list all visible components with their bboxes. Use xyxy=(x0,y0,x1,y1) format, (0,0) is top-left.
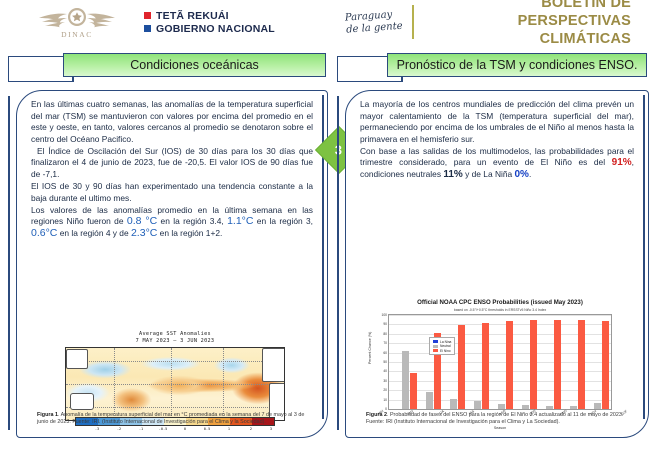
gobierno-nacional-block: TETÃ REKUÁI GOBIERNO NACIONAL xyxy=(144,10,275,35)
header-right-branding: Paraguay de la gente BOLETÍN DE PERSPECT… xyxy=(330,0,659,44)
panel-pronostico-tsm-enso: Pronóstico de la TSM y condiciones ENSO.… xyxy=(337,48,651,448)
ytick-30: 30 xyxy=(376,379,387,383)
page-header: DINAC TETÃ REKUÁI GOBIERNO NACIONAL Para… xyxy=(0,0,659,44)
left-panel-text: En las últimas cuatro semanas, las anoma… xyxy=(31,99,313,240)
left-paragraph-anomalies: Los valores de las anomalías promedio en… xyxy=(31,205,313,240)
legend-item-elnino: El Nino xyxy=(433,349,451,353)
anom-text-4: en la región 4 y de xyxy=(57,228,131,238)
legend-label-neutral: Neutral xyxy=(440,344,451,348)
left-paragraph-1: En las últimas cuatro semanas, las anoma… xyxy=(31,99,313,145)
gov-line-gobierno: GOBIERNO NACIONAL xyxy=(144,23,275,35)
bar-el-nino-ond xyxy=(554,320,561,409)
bar-group-djf xyxy=(585,315,609,409)
cbar-tick-6: 1 xyxy=(228,427,230,431)
fig2-caption-label: Figura 2 xyxy=(366,412,387,418)
prob-value-neutral: 11% xyxy=(443,169,462,180)
bar-group-amj xyxy=(393,315,417,409)
legend-swatch-neutral xyxy=(433,345,438,348)
left-paragraph-2: El Índice de Oscilación del Sur (IOS) de… xyxy=(31,146,313,181)
dinac-wordmark: DINAC xyxy=(61,30,93,39)
fig1-subtitle: 7 MAY 2023 – 3 JUN 2023 xyxy=(65,338,285,345)
enso-bar-groups xyxy=(393,315,609,409)
fig1-caption-text: . Anomalía de la temperatura superficial… xyxy=(37,412,304,426)
page-title: BOLETÍN DE PERSPECTIVAS CLIMÁTICAS xyxy=(426,0,631,49)
anom-value-nino34: 0.8 °C xyxy=(127,215,157,227)
bar-neutral-ond xyxy=(546,406,553,409)
bar-el-nino-son xyxy=(530,320,537,409)
cbar-tick-4: 0 xyxy=(184,427,186,431)
figure-1-caption: Figura 1. Anomalía de la temperatura sup… xyxy=(37,412,311,427)
cbar-tick-5: 0.5 xyxy=(204,427,211,431)
fig2-caption-text: . Probabilidad de fases del ENSO para la… xyxy=(366,412,623,426)
bar-group-jas xyxy=(465,315,489,409)
bar-group-ond xyxy=(537,315,561,409)
ytick-100: 100 xyxy=(376,313,387,317)
right-panel-text: La mayoría de los centros mundiales de p… xyxy=(360,99,634,181)
ytick-20: 20 xyxy=(376,388,387,392)
ytick-10: 10 xyxy=(376,398,387,402)
bar-neutral-mjj xyxy=(426,392,433,409)
right-panel-side-rule xyxy=(337,96,339,430)
bar-el-nino-jas xyxy=(482,323,489,409)
figure-1-sst-map: Average SST Anomalies 7 MAY 2023 – 3 JUN… xyxy=(65,331,285,421)
page-title-line-1: BOLETÍN DE PERSPECTIVAS xyxy=(426,0,631,31)
cbar-tick-2: -1 xyxy=(139,427,143,431)
cbar-tick-8: 3 xyxy=(270,427,272,431)
enso-chart-legend: La Nina Neutral El Nino xyxy=(429,337,455,355)
bar-neutral-son xyxy=(522,405,529,409)
blue-square-icon xyxy=(144,25,151,32)
ytick-40: 40 xyxy=(376,369,387,373)
left-panel-title-chip: Condiciones oceánicas xyxy=(63,53,326,77)
map-landmass-australia xyxy=(70,393,94,411)
left-paragraph-3: El IOS de 30 y 90 días han experimentado… xyxy=(31,181,313,204)
right-paragraph-probabilities: Con base a las salidas de los multimodel… xyxy=(360,146,634,181)
left-panel-side-rule xyxy=(8,96,10,430)
bar-neutral-amj xyxy=(402,351,409,409)
map-landmass-americas xyxy=(262,348,285,382)
prob-text-3: y de La Niña xyxy=(463,169,515,179)
anom-text-5: en la región 1+2. xyxy=(157,228,222,238)
fig1-caption-label: Figura 1 xyxy=(37,412,58,418)
anom-text-2: en la región 3.4, xyxy=(157,216,227,226)
legend-label-elnino: El Nino xyxy=(440,349,451,353)
prob-text-1: Con base a las salidas de los multimodel… xyxy=(360,146,634,168)
cbar-tick-7: 2 xyxy=(250,427,252,431)
sst-colorbar-ticks: -3 -2 -1 -0.5 0 0.5 1 2 3 xyxy=(75,427,275,435)
anom-text-3: en la región 3, xyxy=(253,216,313,226)
ytick-80: 80 xyxy=(376,332,387,336)
right-panel-body: La mayoría de los centros mundiales de p… xyxy=(345,90,649,438)
prob-value-elnino: 91% xyxy=(612,157,632,168)
bar-el-nino-jja xyxy=(458,325,465,409)
bar-el-nino-aso xyxy=(506,321,513,409)
ytick-60: 60 xyxy=(376,351,387,355)
gov-label-teta: TETÃ REKUÁI xyxy=(156,10,229,22)
gov-label-gobierno: GOBIERNO NACIONAL xyxy=(156,23,275,35)
red-square-icon xyxy=(144,12,151,19)
legend-item-lanina: La Nina xyxy=(433,340,451,344)
anom-value-nino4: 0.6°C xyxy=(31,227,57,239)
sst-anomaly-heatmap xyxy=(65,347,285,421)
right-panel-accent-bar xyxy=(643,95,645,419)
left-panel-body: En las últimas cuatro semanas, las anoma… xyxy=(16,90,328,438)
ytick-90: 90 xyxy=(376,322,387,326)
bar-group-jja xyxy=(441,315,465,409)
fig2-subtitle: based on -0.5°/+0.5°C thresholds in ERSS… xyxy=(360,307,640,313)
fig2-y-axis-title: Percent Chance (%) xyxy=(368,332,372,364)
cbar-tick-3: -0.5 xyxy=(159,427,168,431)
fig1-title: Average SST Anomalies xyxy=(65,331,285,338)
panel-condiciones-oceanicas: Condiciones oceánicas En las últimas cua… xyxy=(8,48,330,448)
right-paragraph-1: La mayoría de los centros mundiales de p… xyxy=(360,99,634,145)
anom-value-nino12: 2.3°C xyxy=(131,227,157,239)
bar-group-aso xyxy=(489,315,513,409)
dinac-wings-logo: DINAC xyxy=(28,1,126,43)
cbar-tick-0: -3 xyxy=(95,427,99,431)
gov-line-teta: TETÃ REKUÁI xyxy=(144,10,275,22)
ytick-50: 50 xyxy=(376,360,387,364)
paraguay-de-la-gente-logo: Paraguay de la gente xyxy=(329,8,408,36)
legend-item-neutral: Neutral xyxy=(433,344,451,348)
page-title-line-2: CLIMÁTICAS xyxy=(426,31,631,49)
bar-el-nino-ndj xyxy=(578,320,585,409)
anom-value-nino3: 1.1°C xyxy=(227,215,253,227)
fig2-title: Official NOAA CPC ENSO Probabilities (is… xyxy=(360,299,640,307)
header-divider xyxy=(412,5,414,39)
cbar-tick-1: -2 xyxy=(117,427,121,431)
bar-group-son xyxy=(513,315,537,409)
legend-swatch-elnino xyxy=(433,349,438,352)
bar-el-nino-amj xyxy=(410,373,417,409)
prob-value-lanina: 0% xyxy=(515,169,529,180)
legend-swatch-lanina xyxy=(433,340,438,343)
right-panel-title-chip: Pronóstico de la TSM y condiciones ENSO. xyxy=(387,53,647,77)
figure-2-caption: Figura 2. Probabilidad de fases del ENSO… xyxy=(366,412,632,427)
ytick-70: 70 xyxy=(376,341,387,345)
bar-el-nino-djf xyxy=(602,321,609,409)
header-left-branding: DINAC TETÃ REKUÁI GOBIERNO NACIONAL xyxy=(0,0,330,44)
legend-label-lanina: La Nina xyxy=(440,340,451,344)
bar-group-mjj xyxy=(417,315,441,409)
prob-text-4: . xyxy=(529,169,531,179)
map-landmass-asia xyxy=(66,349,88,368)
enso-plot-area: 100 90 80 70 60 50 40 30 20 10 0 La Nina… xyxy=(388,314,612,410)
bar-group-ndj xyxy=(561,315,585,409)
